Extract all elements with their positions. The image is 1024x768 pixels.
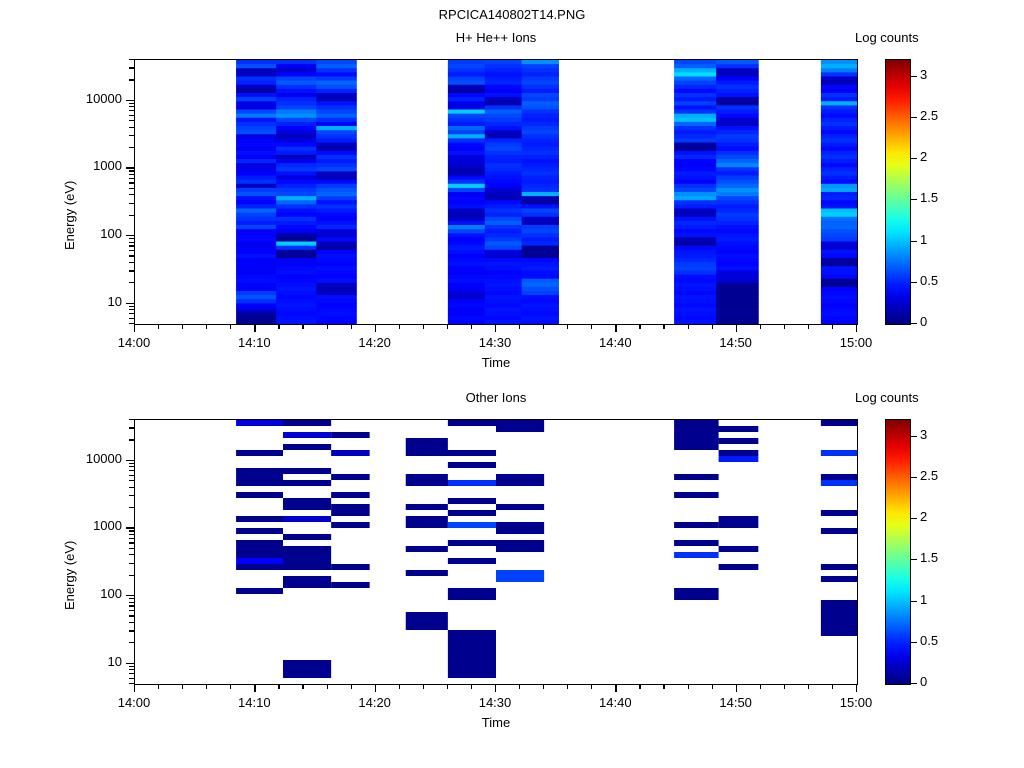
xtick-minor	[327, 685, 328, 689]
panel-bottom-colorbar-gradient	[886, 420, 910, 684]
xtick-mark	[375, 325, 376, 332]
colorbar-tick-label: 0.5	[920, 273, 938, 288]
colorbar-tick-label: 1	[920, 592, 927, 607]
xtick-minor	[278, 325, 279, 329]
xtick-minor	[688, 685, 689, 689]
ytick-minor	[129, 127, 134, 128]
ytick-minor	[129, 238, 134, 239]
ytick-minor	[129, 427, 134, 428]
xtick-minor	[543, 685, 544, 689]
xtick-minor	[543, 325, 544, 329]
ytick-minor	[129, 642, 134, 643]
xtick-minor	[447, 325, 448, 329]
ytick-minor	[129, 683, 134, 684]
xtick-minor	[158, 325, 159, 329]
colorbar-tick-mark	[911, 199, 917, 200]
ytick-minor	[129, 615, 134, 616]
xtick-minor	[302, 325, 303, 329]
ytick-minor	[129, 666, 134, 667]
xtick-mark	[375, 685, 376, 692]
ytick-minor	[129, 605, 134, 606]
xtick-minor	[230, 685, 231, 689]
xtick-label: 15:00	[816, 335, 896, 350]
ytick-minor	[129, 255, 134, 256]
xtick-minor	[351, 685, 352, 689]
panel-top-title: H+ He++ Ions	[0, 30, 992, 45]
xtick-label: 14:00	[94, 695, 174, 710]
ytick-minor	[129, 270, 134, 271]
ytick-minor	[129, 673, 134, 674]
xtick-minor	[447, 685, 448, 689]
ytick-minor	[129, 106, 134, 107]
panel-bottom-xlabel: Time	[134, 715, 858, 730]
xtick-minor	[663, 325, 664, 329]
xtick-minor	[688, 325, 689, 329]
xtick-mark	[856, 685, 857, 692]
ytick-minor	[129, 194, 134, 195]
ytick-minor	[129, 79, 134, 80]
ytick-minor	[129, 215, 134, 216]
xtick-minor	[327, 325, 328, 329]
xtick-mark	[134, 685, 135, 692]
colorbar-tick-mark	[911, 241, 917, 242]
ytick-minor	[129, 470, 134, 471]
ytick-label: 10	[48, 654, 122, 669]
colorbar-tick-mark	[911, 559, 917, 560]
ytick-minor	[129, 610, 134, 611]
ytick-minor	[129, 120, 134, 121]
xtick-minor	[591, 325, 592, 329]
xtick-minor	[519, 325, 520, 329]
ytick-minor	[129, 439, 134, 440]
xtick-minor	[784, 685, 785, 689]
xtick-mark	[615, 325, 616, 332]
xtick-minor	[230, 325, 231, 329]
xtick-minor	[158, 685, 159, 689]
colorbar-tick-mark	[911, 76, 917, 77]
panel-top-colorbar-gradient	[886, 60, 910, 324]
colorbar-tick-label: 2	[920, 509, 927, 524]
colorbar-tick-label: 1.5	[920, 190, 938, 205]
ytick-minor	[129, 110, 134, 111]
xtick-label: 14:30	[455, 335, 535, 350]
xtick-label: 14:40	[575, 335, 655, 350]
panel-bottom: Other Ions Energy (eV) 10100100010000 Ti…	[0, 380, 1024, 768]
xtick-minor	[760, 685, 761, 689]
colorbar-tick-label: 3	[920, 427, 927, 442]
ytick-minor	[129, 250, 134, 251]
xtick-minor	[712, 685, 713, 689]
xtick-minor	[639, 685, 640, 689]
xtick-minor	[471, 325, 472, 329]
panel-bottom-plot-area[interactable]	[134, 419, 858, 685]
colorbar-tick-label: 2	[920, 149, 927, 164]
ytick-minor	[129, 170, 134, 171]
ytick-minor	[129, 306, 134, 307]
xtick-label: 14:20	[335, 335, 415, 350]
panel-top-plot-area[interactable]	[134, 59, 858, 325]
ytick-minor	[129, 182, 134, 183]
xtick-label: 14:50	[696, 335, 776, 350]
xtick-label: 14:50	[696, 695, 776, 710]
ytick-minor	[129, 534, 134, 535]
ytick-minor	[129, 309, 134, 310]
ytick-minor	[129, 147, 134, 148]
xtick-minor	[182, 325, 183, 329]
ytick-minor	[129, 188, 134, 189]
xtick-label: 14:40	[575, 695, 655, 710]
xtick-minor	[471, 685, 472, 689]
ytick-minor	[129, 466, 134, 467]
ytick-minor	[129, 548, 134, 549]
xtick-minor	[832, 325, 833, 329]
ytick-minor	[129, 262, 134, 263]
xtick-mark	[134, 325, 135, 332]
xtick-mark	[254, 685, 255, 692]
xtick-minor	[808, 325, 809, 329]
ytick-mark	[126, 460, 134, 461]
xtick-mark	[736, 325, 737, 332]
xtick-minor	[206, 325, 207, 329]
ytick-minor	[129, 575, 134, 576]
xtick-mark	[615, 685, 616, 692]
xtick-minor	[760, 325, 761, 329]
xtick-minor	[639, 325, 640, 329]
ytick-label: 1000	[48, 518, 122, 533]
ytick-minor	[129, 475, 134, 476]
ytick-label: 100	[48, 586, 122, 601]
ytick-minor	[129, 282, 134, 283]
colorbar-tick-mark	[911, 117, 917, 118]
ytick-label: 10	[48, 294, 122, 309]
ytick-minor	[129, 542, 134, 543]
ytick-label: 10000	[48, 451, 122, 466]
ytick-minor	[129, 313, 134, 314]
xtick-minor	[808, 685, 809, 689]
xtick-minor	[567, 325, 568, 329]
xtick-minor	[663, 685, 664, 689]
ytick-minor	[129, 622, 134, 623]
panel-top-colorbar-title: Log counts	[855, 30, 1024, 45]
xtick-minor	[567, 685, 568, 689]
colorbar-tick-mark	[911, 477, 917, 478]
colorbar-tick-label: 0.5	[920, 633, 938, 648]
colorbar-tick-mark	[911, 323, 917, 324]
xtick-minor	[712, 325, 713, 329]
ytick-minor	[129, 115, 134, 116]
xtick-minor	[399, 685, 400, 689]
colorbar-tick-label: 1	[920, 232, 927, 247]
ytick-minor	[129, 203, 134, 204]
xtick-label: 14:10	[214, 335, 294, 350]
ytick-label: 1000	[48, 158, 122, 173]
panel-top: H+ He++ Ions Energy (eV) 10100100010000 …	[0, 0, 1024, 380]
ytick-minor	[129, 242, 134, 243]
ytick-mark	[126, 527, 134, 528]
ytick-minor	[129, 103, 134, 104]
ytick-minor	[129, 59, 134, 60]
ytick-minor	[129, 598, 134, 599]
ytick-minor	[129, 480, 134, 481]
colorbar-tick-mark	[911, 642, 917, 643]
xtick-minor	[351, 325, 352, 329]
xtick-label: 14:10	[214, 695, 294, 710]
colorbar-tick-label: 2.5	[920, 108, 938, 123]
panel-bottom-colorbar	[885, 419, 911, 685]
ytick-minor	[129, 495, 134, 496]
ytick-minor	[129, 602, 134, 603]
ytick-mark	[126, 663, 134, 664]
ytick-mark	[126, 167, 134, 168]
xtick-minor	[519, 685, 520, 689]
xtick-minor	[423, 685, 424, 689]
ytick-minor	[129, 323, 134, 324]
xtick-mark	[495, 325, 496, 332]
ytick-minor	[129, 507, 134, 508]
colorbar-tick-label: 2.5	[920, 468, 938, 483]
panel-top-colorbar	[885, 59, 911, 325]
ytick-label: 10000	[48, 91, 122, 106]
colorbar-tick-mark	[911, 601, 917, 602]
colorbar-tick-mark	[911, 518, 917, 519]
colorbar-tick-mark	[911, 158, 917, 159]
ytick-minor	[129, 630, 134, 631]
xtick-minor	[784, 325, 785, 329]
ytick-minor	[129, 538, 134, 539]
panel-bottom-heatmap	[135, 420, 857, 684]
ytick-minor	[129, 318, 134, 319]
xtick-label: 15:00	[816, 695, 896, 710]
colorbar-tick-label: 0	[920, 314, 927, 329]
xtick-label: 14:30	[455, 695, 535, 710]
panel-bottom-colorbar-title: Log counts	[855, 390, 1024, 405]
ytick-minor	[129, 463, 134, 464]
xtick-mark	[254, 325, 255, 332]
ytick-mark	[126, 595, 134, 596]
xtick-label: 14:20	[335, 695, 415, 710]
xtick-minor	[423, 325, 424, 329]
ytick-mark	[126, 303, 134, 304]
colorbar-tick-label: 0	[920, 674, 927, 689]
ytick-minor	[129, 67, 134, 68]
ytick-minor	[129, 174, 134, 175]
colorbar-tick-mark	[911, 282, 917, 283]
panel-top-heatmap	[135, 60, 857, 324]
xtick-minor	[278, 685, 279, 689]
colorbar-tick-label: 3	[920, 67, 927, 82]
ytick-minor	[129, 419, 134, 420]
ytick-mark	[126, 100, 134, 101]
xtick-minor	[832, 685, 833, 689]
colorbar-tick-label: 1.5	[920, 550, 938, 565]
xtick-mark	[736, 685, 737, 692]
figure-root: RPCICA140802T14.PNG H+ He++ Ions Energy …	[0, 0, 1024, 768]
colorbar-tick-mark	[911, 436, 917, 437]
ytick-minor	[129, 678, 134, 679]
ytick-minor	[129, 135, 134, 136]
xtick-minor	[302, 685, 303, 689]
ytick-minor	[129, 530, 134, 531]
xtick-minor	[206, 685, 207, 689]
colorbar-tick-mark	[911, 683, 917, 684]
ytick-minor	[129, 178, 134, 179]
xtick-minor	[591, 685, 592, 689]
ytick-minor	[129, 669, 134, 670]
ytick-minor	[129, 245, 134, 246]
panel-top-xlabel: Time	[134, 355, 858, 370]
ytick-minor	[129, 563, 134, 564]
ytick-mark	[126, 235, 134, 236]
xtick-label: 14:00	[94, 335, 174, 350]
xtick-mark	[856, 325, 857, 332]
xtick-mark	[495, 685, 496, 692]
xtick-minor	[182, 685, 183, 689]
xtick-minor	[399, 325, 400, 329]
ytick-minor	[129, 554, 134, 555]
ytick-minor	[129, 487, 134, 488]
ytick-label: 100	[48, 226, 122, 241]
panel-bottom-title: Other Ions	[0, 390, 992, 405]
